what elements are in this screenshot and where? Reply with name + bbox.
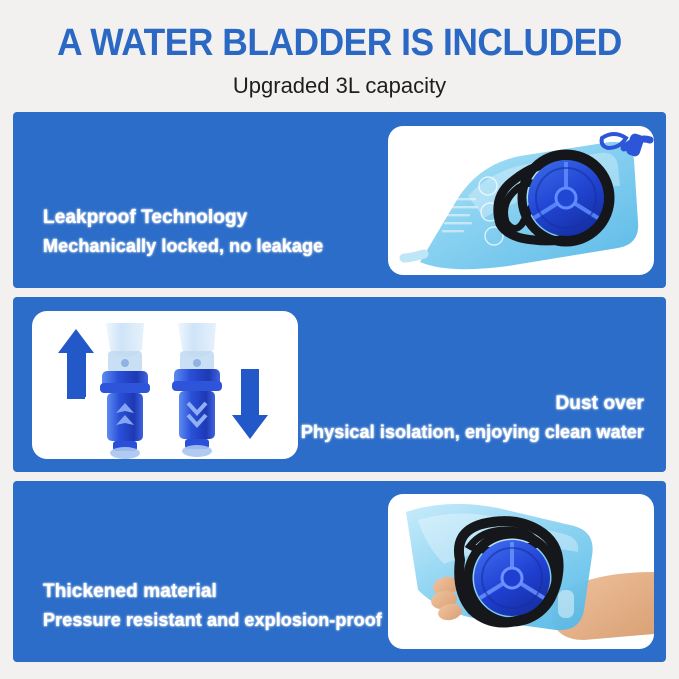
header: A WATER BLADDER IS INCLUDED Upgraded 3L …: [0, 0, 679, 99]
caption-subtext: Mechanically locked, no leakage: [43, 234, 323, 258]
bladder-cap-illustration: [388, 126, 654, 275]
arrow-down-icon: [232, 369, 268, 439]
caption-heading: Leakproof Technology: [43, 205, 323, 231]
caption-leakproof: Leakproof Technology Mechanically locked…: [43, 205, 323, 258]
caption-dust-over: Dust over Physical isolation, enjoying c…: [301, 391, 644, 444]
valve-left: [100, 323, 150, 459]
feature-panel-dust-over: Dust over Physical isolation, enjoying c…: [13, 297, 666, 472]
bite-valve-illustration: [32, 311, 298, 459]
photo-card-hand-holding-bladder: [388, 494, 654, 649]
feature-panel-leakproof: Leakproof Technology Mechanically locked…: [13, 112, 666, 288]
photo-card-bladder-cap: [388, 126, 654, 275]
caption-heading: Thickened material: [43, 579, 382, 605]
hand-holding-bladder-illustration: [388, 494, 654, 649]
feature-panel-thickened-material: Thickened material Pressure resistant an…: [13, 481, 666, 662]
caption-subtext: Pressure resistant and explosion-proof: [43, 608, 382, 632]
valve-right: [172, 323, 222, 457]
feature-panels: Leakproof Technology Mechanically locked…: [13, 112, 666, 662]
page-title: A WATER BLADDER IS INCLUDED: [24, 24, 655, 64]
caption-subtext: Physical isolation, enjoying clean water: [301, 420, 644, 444]
arrow-up-icon: [58, 329, 94, 399]
page-subtitle: Upgraded 3L capacity: [0, 73, 679, 99]
photo-card-bite-valves: [32, 311, 298, 459]
caption-thickened-material: Thickened material Pressure resistant an…: [43, 579, 382, 632]
caption-heading: Dust over: [301, 391, 644, 417]
